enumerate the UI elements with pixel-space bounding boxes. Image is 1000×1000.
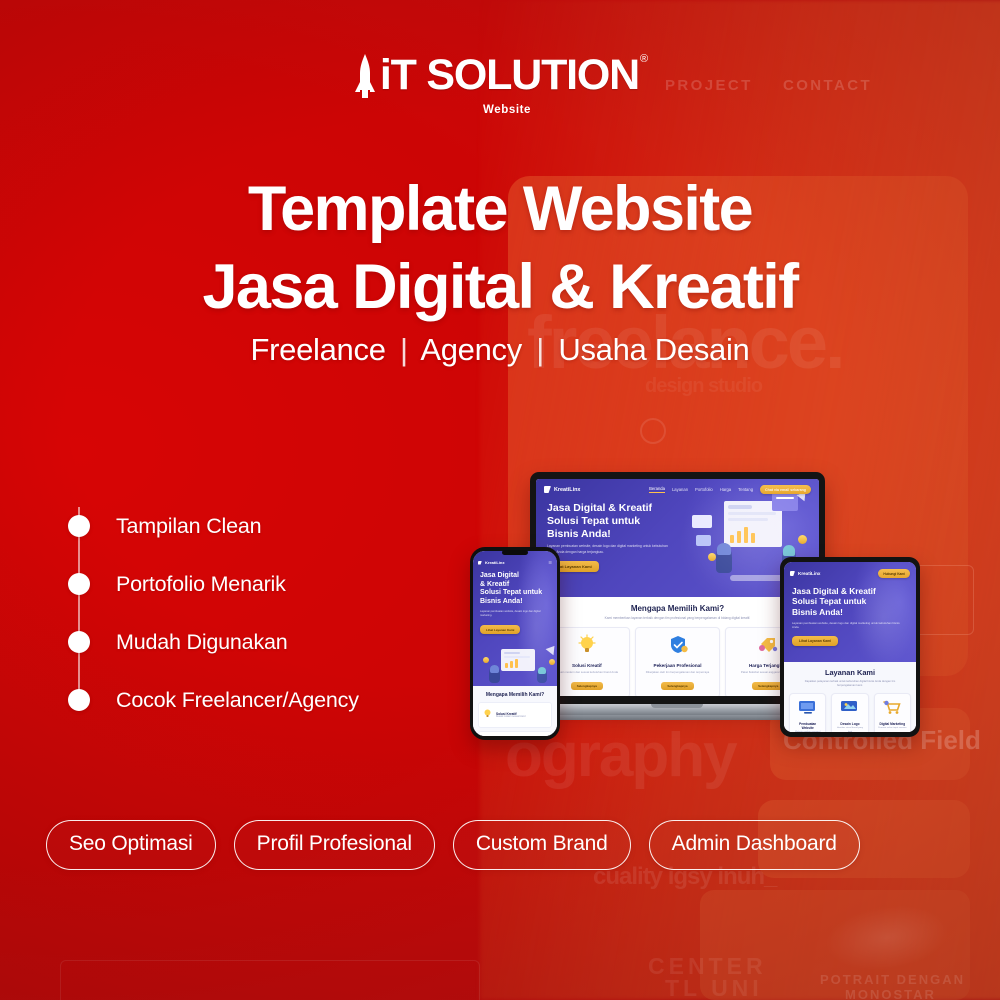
tablet-mock-card-1[interactable]: Desain Logo Identitas visual brand yang … <box>831 693 868 732</box>
pill-custom-brand[interactable]: Custom Brand <box>453 820 631 870</box>
rocket-icon <box>352 52 378 100</box>
laptop-mock-paragraph: Layanan pembuatan website, desain logo d… <box>547 544 675 554</box>
laptop-mock-nav-items: Beranda Layanan Portofolio Harga Tentang… <box>649 485 811 494</box>
laptop-mock-hero: KreatiLinx Beranda Layanan Portofolio Ha… <box>536 479 819 597</box>
hero-subtitle-item-2: Usaha Desain <box>558 332 749 367</box>
phone-mock-paragraph: Layanan pembuatan website, desain logo d… <box>480 610 546 618</box>
tablet-mock-page: KreatiLinx Hubungi Kami Jasa Digital & K… <box>784 562 916 732</box>
phone-mock-headline-2: & Kreatif <box>480 581 557 590</box>
phone-mockup: KreatiLinx ☰ Jasa Digital & Kreatif Solu… <box>470 547 560 740</box>
laptop-mock-card-text-0: Desain modern dan sesuai kebutuhan brand… <box>549 670 625 674</box>
laptop-mock-nav-item-2[interactable]: Portofolio <box>695 487 713 492</box>
tablet-mock-headline-3: Bisnis Anda! <box>792 607 916 617</box>
tablet-mock-card-text-0: Website modern responsif dan cepat <box>793 731 822 732</box>
phone-mock-list-item-0[interactable]: Solusi Kreatif Desain modern sesuai bran… <box>478 702 552 728</box>
device-mockup-group: KreatiLinx Beranda Layanan Portofolio Ha… <box>455 452 955 772</box>
hero-subtitle: Freelance | Agency | Usaha Desain <box>0 332 1000 368</box>
tablet-mock-section-subtitle: Dapatkan pelayanan terbaik untuk kebutuh… <box>798 680 902 688</box>
laptop-mock-card-row: Solusi Kreatif Desain modern dan sesuai … <box>544 627 811 696</box>
tablet-screen: KreatiLinx Hubungi Kami Jasa Digital & K… <box>784 562 916 732</box>
feature-label-3: Cocok Freelancer/Agency <box>116 688 359 713</box>
laptop-mock-section: Mengapa Memilih Kami? Kami memberikan la… <box>536 597 819 696</box>
laptop-mock-nav-item-4[interactable]: Tentang <box>738 487 753 492</box>
tablet-mock-brand-text: KreatiLinx <box>798 571 820 576</box>
bullet-dot-icon <box>68 689 90 711</box>
hero-headline-line-2: Jasa Digital & Kreatif <box>0 248 1000 326</box>
tablet-mock-headline-1: Jasa Digital & Kreatif <box>792 586 916 596</box>
brand-mark-icon <box>544 486 551 493</box>
brand-logo-subtitle: Website <box>483 104 531 116</box>
phone-mock-list-text-0: Desain modern sesuai brand <box>496 716 525 718</box>
monitor-icon <box>797 699 819 720</box>
phone-bezel: KreatiLinx ☰ Jasa Digital & Kreatif Solu… <box>470 547 560 740</box>
phone-mock-hero: KreatiLinx ☰ Jasa Digital & Kreatif Solu… <box>473 551 557 686</box>
tablet-mock-card-text-1: Identitas visual brand yang kuat <box>835 727 864 732</box>
hero-subtitle-separator-1: | <box>530 332 550 367</box>
tablet-mock-navbar: KreatiLinx Hubungi Kami <box>784 569 916 578</box>
brand-mark-icon <box>478 561 482 565</box>
laptop-mock-cta-button[interactable]: Chat via email sekarang <box>760 485 811 494</box>
bullet-dot-icon <box>68 573 90 595</box>
laptop-mock-headline-3: Bisnis Anda! <box>547 528 686 541</box>
brand-mark-icon <box>790 571 795 576</box>
phone-mock-headline-1: Jasa Digital <box>480 572 557 581</box>
phone-mock-hero-button[interactable]: Lihat Layanan Kami <box>480 625 520 634</box>
feature-list-item-2: Mudah Digunakan <box>68 613 359 671</box>
lightbulb-icon <box>576 634 598 661</box>
pill-profil-profesional[interactable]: Profil Profesional <box>234 820 435 870</box>
feature-label-1: Portofolio Menarik <box>116 572 286 597</box>
phone-screen: KreatiLinx ☰ Jasa Digital & Kreatif Solu… <box>473 551 557 736</box>
bullet-dot-icon <box>68 631 90 653</box>
laptop-mock-card-button-1[interactable]: Selengkapnya <box>661 682 693 690</box>
laptop-mock-navbar: KreatiLinx Beranda Layanan Portofolio Ha… <box>536 485 819 494</box>
tablet-mock-card-title-1: Desain Logo <box>835 722 864 726</box>
laptop-mock-nav-item-1[interactable]: Layanan <box>672 487 688 492</box>
registered-trademark-icon: ® <box>640 52 648 66</box>
laptop-mock-card-title-0: Solusi Kreatif <box>549 663 625 668</box>
tablet-mock-card-title-2: Digital Marketing <box>878 722 907 726</box>
shield-check-icon <box>667 634 689 661</box>
pill-seo-optimasi[interactable]: Seo Optimasi <box>46 820 216 870</box>
laptop-mock-brand-text: KreatiLinx <box>554 487 580 493</box>
tablet-mock-card-2[interactable]: Digital Marketing Promosi online tepat s… <box>874 693 911 732</box>
feature-list-item-1: Portofolio Menarik <box>68 555 359 613</box>
hero-headline-line-1: Template Website <box>0 170 1000 248</box>
tablet-mock-cta-button[interactable]: Hubungi Kami <box>878 569 910 578</box>
phone-mock-headline-4: Bisnis Anda! <box>480 598 557 607</box>
laptop-mock-section-subtitle: Kami memberikan layanan terbaik dengan t… <box>593 616 763 621</box>
laptop-mock-nav-item-0[interactable]: Beranda <box>649 486 665 493</box>
feature-label-2: Mudah Digunakan <box>116 630 288 655</box>
feature-list: Tampilan Clean Portofolio Menarik Mudah … <box>68 497 359 729</box>
laptop-mock-nav-item-3[interactable]: Harga <box>720 487 731 492</box>
feature-label-0: Tampilan Clean <box>116 514 261 539</box>
phone-mock-section: Mengapa Memilih Kami? Solusi Kreatif <box>473 686 557 736</box>
tablet-mock-paragraph: Layanan pembuatan website, desain logo d… <box>792 621 904 629</box>
ghost-circle-icon <box>640 418 666 444</box>
phone-mock-section-title: Mengapa Memilih Kami? <box>478 692 552 698</box>
brand-logo[interactable]: iT SOLUTION ® Website <box>0 52 1000 116</box>
tablet-mock-headline-2: Solusi Tepat untuk <box>792 596 916 606</box>
laptop-mock-card-text-1: Dikerjakan oleh tim berpengalaman dan te… <box>640 670 716 674</box>
laptop-mock-section-title: Mengapa Memilih Kami? <box>544 604 811 613</box>
phone-mock-page: KreatiLinx ☰ Jasa Digital & Kreatif Solu… <box>473 551 557 736</box>
laptop-mock-card-1[interactable]: Pekerjaan Profesional Dikerjakan oleh ti… <box>635 627 721 696</box>
laptop-screen: KreatiLinx Beranda Layanan Portofolio Ha… <box>536 479 819 696</box>
laptop-trackpad-notch <box>651 704 703 708</box>
phone-mock-list-item-1[interactable]: Pekerjaan Profesional Tim berpengalaman <box>478 731 552 736</box>
tablet-mock-brand[interactable]: KreatiLinx <box>790 571 820 576</box>
brush-icon <box>839 699 861 720</box>
feature-list-item-0: Tampilan Clean <box>68 497 359 555</box>
tablet-bezel: KreatiLinx Hubungi Kami Jasa Digital & K… <box>780 557 920 737</box>
laptop-mock-brand[interactable]: KreatiLinx <box>544 486 580 493</box>
pill-admin-dashboard[interactable]: Admin Dashboard <box>649 820 860 870</box>
tag-pill-row: Seo Optimasi Profil Profesional Custom B… <box>46 820 976 870</box>
price-tag-icon <box>757 634 779 661</box>
tablet-mock-hero: KreatiLinx Hubungi Kami Jasa Digital & K… <box>784 562 916 662</box>
hero-subtitle-separator-0: | <box>394 332 414 367</box>
tablet-mock-card-0[interactable]: Pembuatan Website Website modern respons… <box>789 693 826 732</box>
laptop-mock-card-title-1: Pekerjaan Profesional <box>640 663 716 668</box>
cart-icon <box>881 699 903 720</box>
laptop-mock-card-button-0[interactable]: Selengkapnya <box>571 682 603 690</box>
tablet-mock-card-row: Pembuatan Website Website modern respons… <box>789 693 911 732</box>
tablet-mock-card-title-0: Pembuatan Website <box>793 722 822 730</box>
hero-section: Template Website Jasa Digital & Kreatif … <box>0 170 1000 368</box>
hero-subtitle-item-1: Agency <box>420 332 522 367</box>
hero-subtitle-item-0: Freelance <box>250 332 385 367</box>
bullet-dot-icon <box>68 515 90 537</box>
feature-list-item-3: Cocok Freelancer/Agency <box>68 671 359 729</box>
brand-logo-text: iT SOLUTION <box>380 52 639 98</box>
tablet-mock-section-title: Layanan Kami <box>789 668 911 677</box>
shield-check-icon <box>482 735 493 736</box>
tablet-mockup: KreatiLinx Hubungi Kami Jasa Digital & K… <box>780 557 920 737</box>
phone-mock-illustration <box>477 643 557 685</box>
tablet-mock-section: Layanan Kami Dapatkan pelayanan terbaik … <box>784 662 916 732</box>
tablet-mock-card-text-2: Promosi online tepat sasaran <box>878 727 907 730</box>
phone-mock-headline-3: Solusi Tepat untuk <box>480 589 557 598</box>
lightbulb-icon <box>482 706 493 724</box>
laptop-mock-headline-1: Jasa Digital & Kreatif <box>547 502 686 515</box>
laptop-mock-headline-2: Solusi Tepat untuk <box>547 515 686 528</box>
phone-notch <box>502 550 528 555</box>
tablet-mock-hero-button[interactable]: Lihat Layanan Kami <box>792 636 838 646</box>
laptop-mock-page: KreatiLinx Beranda Layanan Portofolio Ha… <box>536 479 819 696</box>
